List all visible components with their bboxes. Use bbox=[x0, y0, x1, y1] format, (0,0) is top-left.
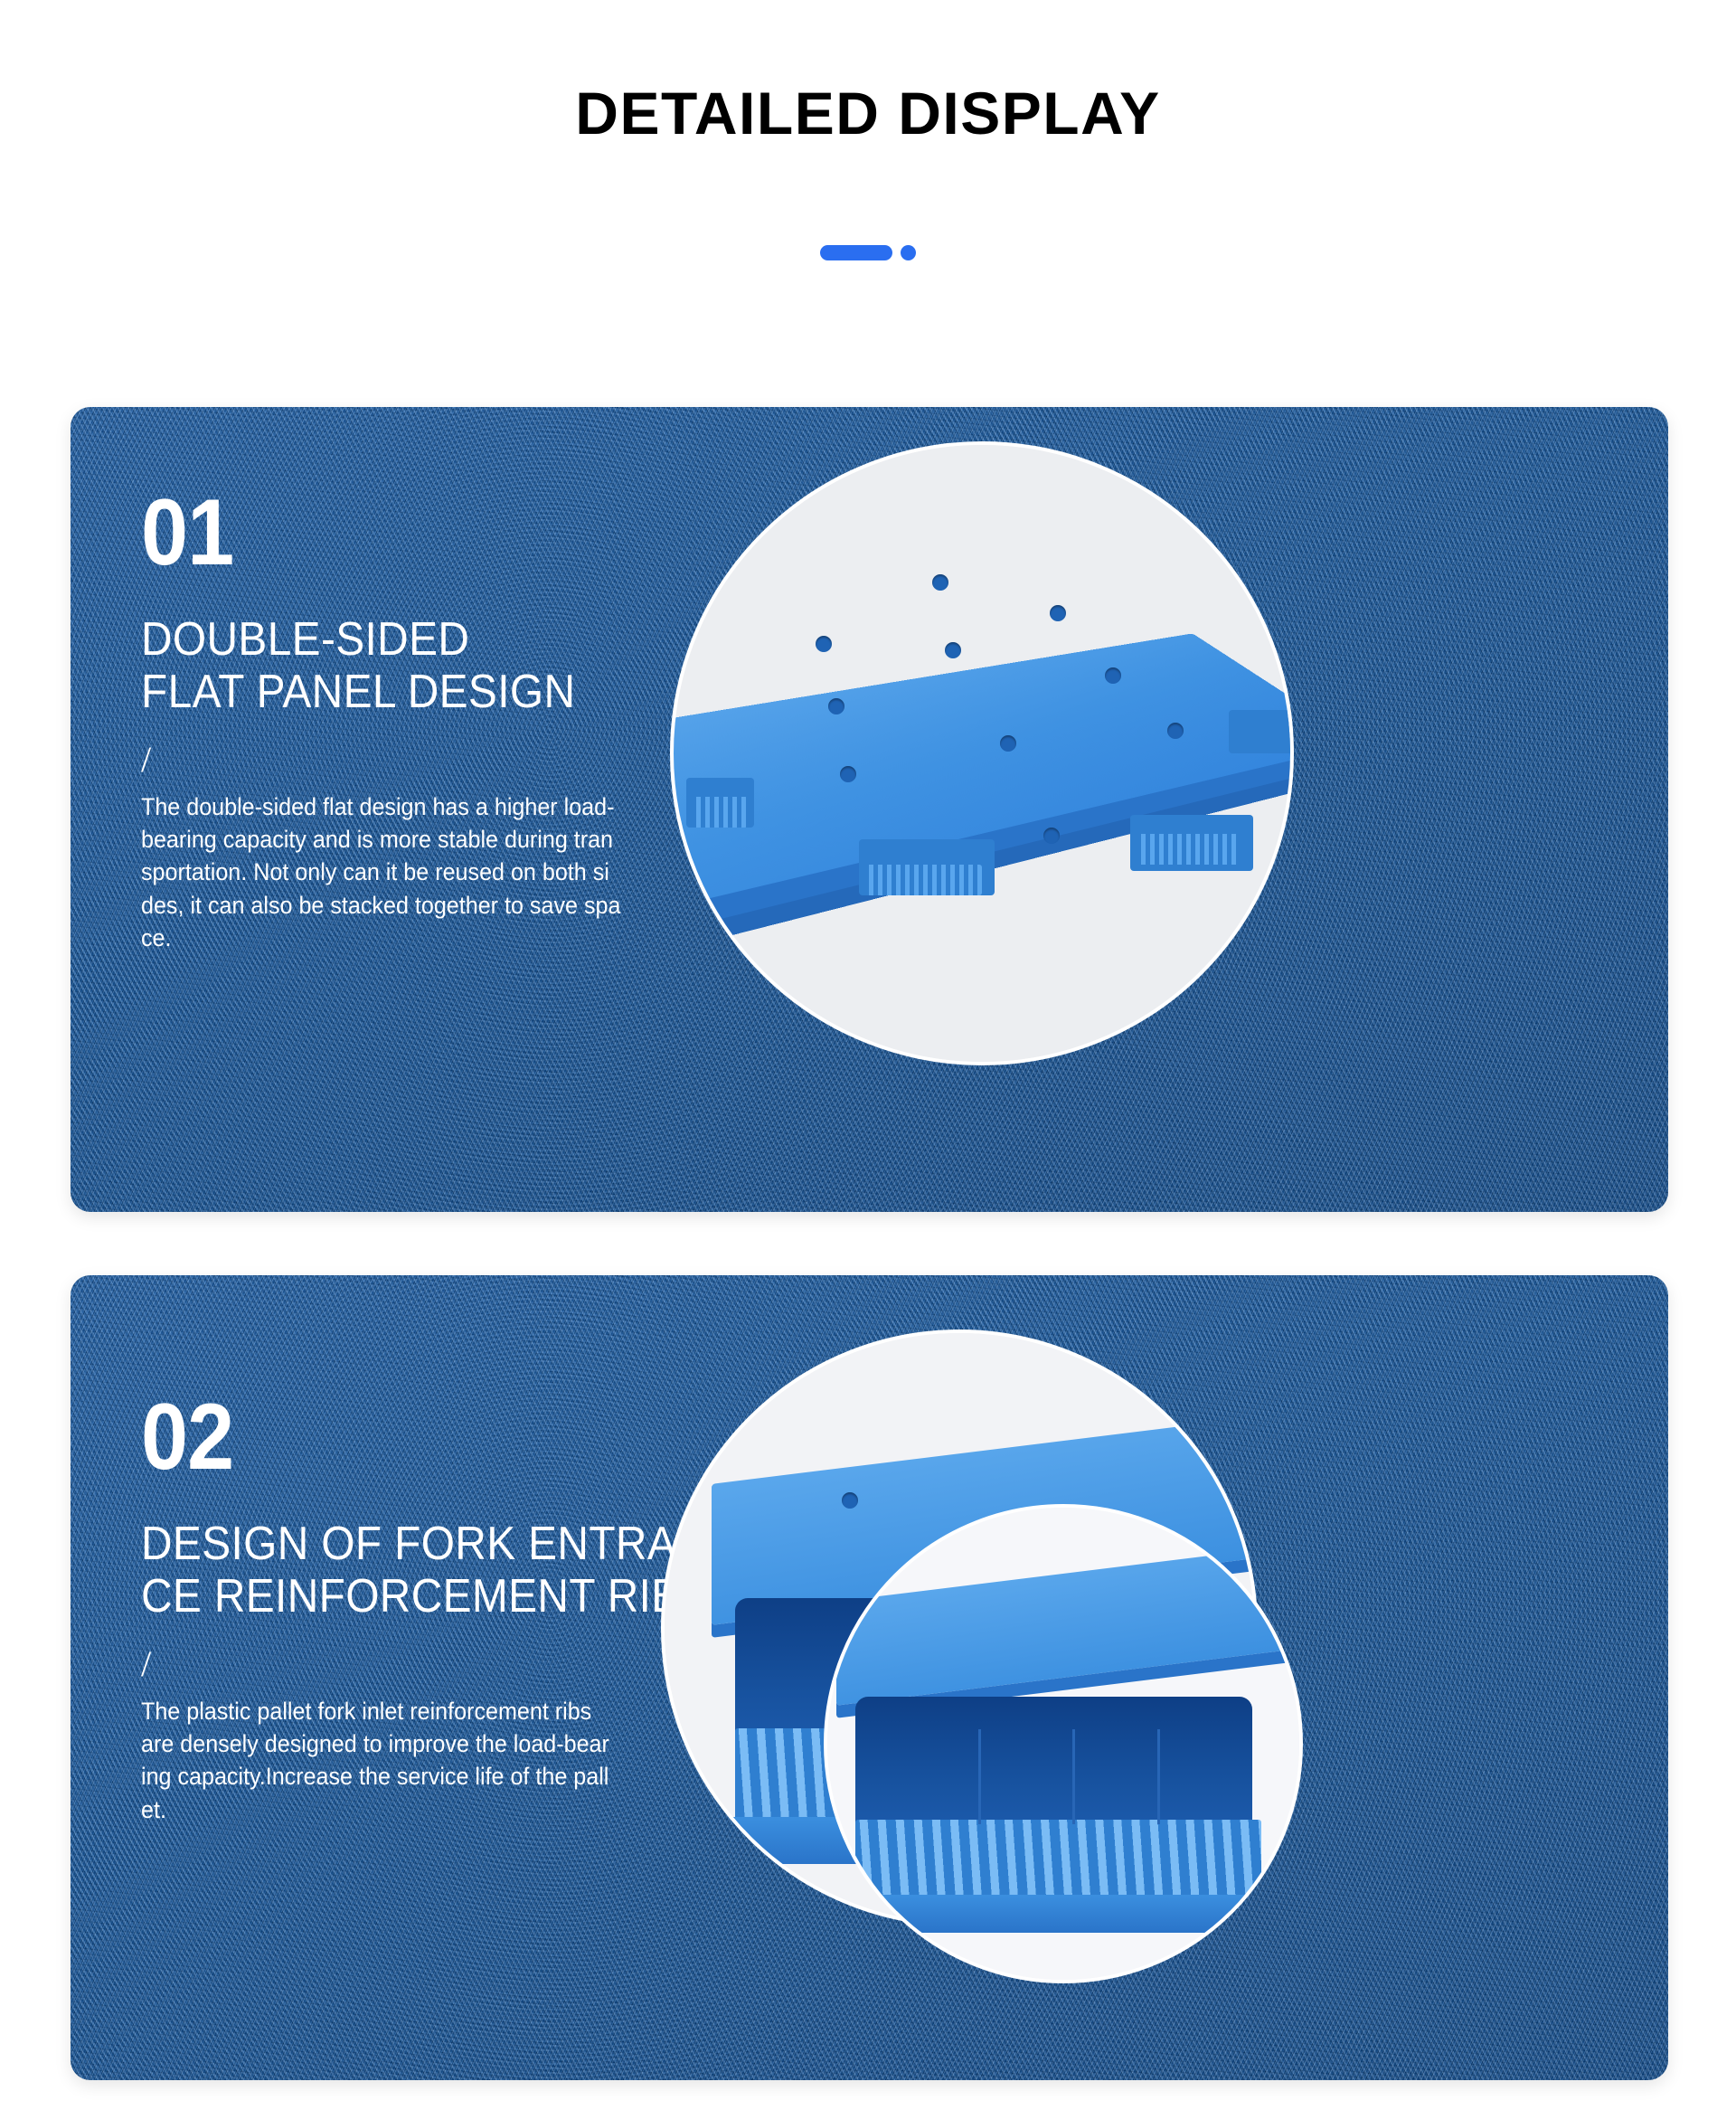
pallet-rib-group bbox=[864, 865, 982, 895]
feature-body-02-line-1: The plastic pallet fork inlet reinforcem… bbox=[141, 1695, 679, 1727]
feature-body-01-line-4: des, it can also be stacked together to … bbox=[141, 889, 679, 922]
pallet-rib-group bbox=[1137, 834, 1241, 865]
feature-number-02: 02 bbox=[141, 1395, 711, 1481]
feature-body-01-line-3: sportation. Not only can it be reused on… bbox=[141, 856, 679, 888]
feature-heading-02: DESIGN OF FORK ENTRAN CE REINFORCEMENT R… bbox=[141, 1518, 723, 1623]
feature-body-02: The plastic pallet fork inlet reinforcem… bbox=[141, 1695, 679, 1826]
detail-display-page: DETAILED DISPLAY 01 DOUBLE-SIDED FLAT PA… bbox=[0, 0, 1736, 2110]
inset-cavity-divider bbox=[978, 1729, 981, 1823]
pallet-hole-icon bbox=[840, 766, 856, 782]
pallet-rib-group bbox=[692, 797, 747, 828]
inset-cavity-divider bbox=[1072, 1729, 1075, 1823]
feature-body-01-line-1: The double-sided flat design has a highe… bbox=[141, 790, 679, 823]
inset-base-rail bbox=[846, 1895, 1261, 1933]
feature-heading-01-line-2: FLAT PANEL DESIGN bbox=[141, 666, 723, 718]
pallet-hole-icon bbox=[1043, 828, 1060, 844]
feature-card-02: 02 DESIGN OF FORK ENTRAN CE REINFORCEMEN… bbox=[71, 1275, 1668, 2080]
feature-body-02-line-3: ing capacity.Increase the service life o… bbox=[141, 1760, 679, 1793]
pallet-hole-icon bbox=[1105, 667, 1121, 684]
feature-body-01: The double-sided flat design has a highe… bbox=[141, 790, 679, 954]
pallet-hole-icon bbox=[828, 698, 844, 714]
inset-fork-cavity bbox=[855, 1697, 1251, 1839]
page-title: DETAILED DISPLAY bbox=[0, 83, 1736, 143]
feature-body-02-line-4: et. bbox=[141, 1793, 679, 1826]
pallet-hole-icon bbox=[1167, 723, 1184, 739]
double-sided-flat-pallet-photo bbox=[670, 441, 1294, 1065]
pallet-hole-icon bbox=[842, 1492, 858, 1509]
feature-heading-02-line-1: DESIGN OF FORK ENTRAN bbox=[141, 1518, 723, 1570]
feature-heading-01: DOUBLE-SIDED FLAT PANEL DESIGN bbox=[141, 613, 723, 718]
inset-cavity-divider bbox=[1157, 1729, 1160, 1823]
feature-body-01-line-2: bearing capacity and is more stable duri… bbox=[141, 823, 679, 856]
feature-heading-01-line-1: DOUBLE-SIDED bbox=[141, 613, 723, 666]
pallet-hole-icon bbox=[1000, 735, 1016, 752]
feature-heading-02-line-2: CE REINFORCEMENT RIBS bbox=[141, 1570, 723, 1623]
decoration-pill-icon bbox=[820, 245, 892, 260]
feature-body-02-line-2: are densely designed to improve the load… bbox=[141, 1727, 679, 1760]
feature-body-01-line-5: ce. bbox=[141, 922, 679, 954]
fork-entrance-magnified-inset bbox=[824, 1504, 1303, 1983]
feature-card-01: 01 DOUBLE-SIDED FLAT PANEL DESIGN / The … bbox=[71, 407, 1668, 1212]
page-header: DETAILED DISPLAY bbox=[0, 0, 1736, 298]
feature-number-01: 01 bbox=[141, 490, 711, 577]
inset-reinforcement-ribs bbox=[855, 1820, 1261, 1905]
pallet-fork-slot bbox=[1229, 710, 1294, 753]
title-decoration bbox=[0, 242, 1736, 262]
decoration-dot-icon bbox=[901, 245, 916, 260]
